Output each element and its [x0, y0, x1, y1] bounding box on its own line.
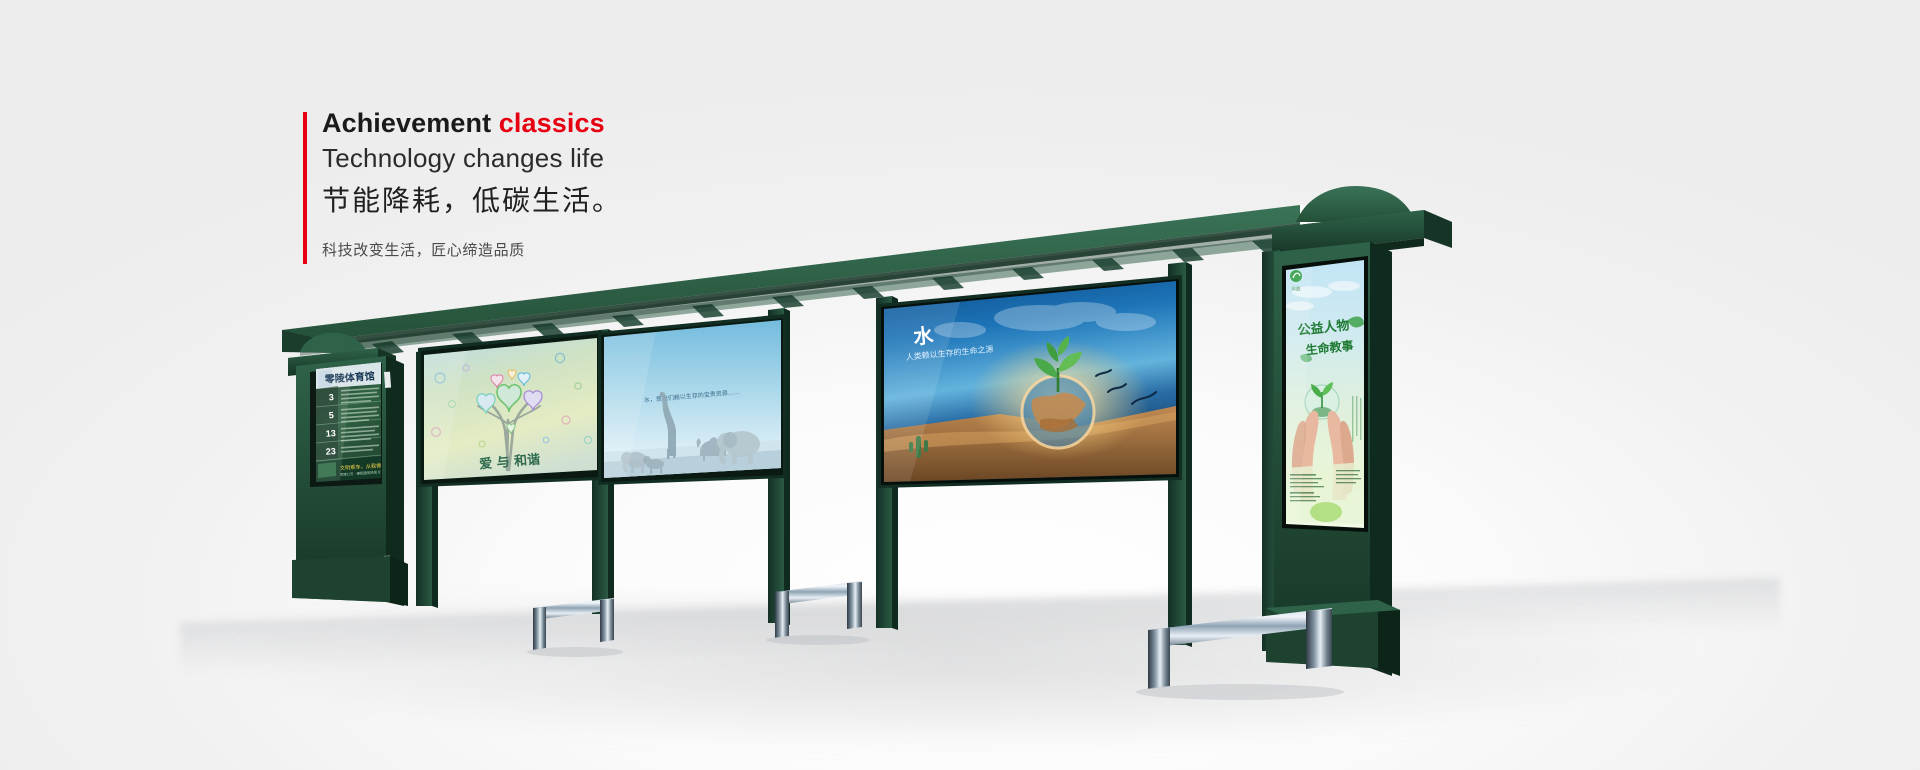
schedule-cabinet-base-front — [292, 556, 390, 602]
shelter-roof — [282, 205, 1420, 356]
lightbox-footer-leaf — [1310, 502, 1342, 522]
ad-panel-heart-tree[interactable]: 爱 与 和谐 — [418, 326, 604, 490]
bench-leg-left — [1148, 628, 1170, 689]
bench-leg-left — [775, 591, 789, 638]
bench-shadow — [1136, 684, 1344, 700]
ad-panel-water-earth[interactable]: 水 人类赖以生存的生命之源 — [878, 275, 1183, 490]
cabinet-hinge-top — [384, 372, 391, 388]
bench-leg-right — [847, 582, 862, 629]
lightbox-base-side — [1378, 600, 1400, 676]
product-showcase-canvas: Achievement classics Technology changes … — [0, 0, 1920, 770]
bench[interactable] — [1136, 608, 1344, 700]
canopy-slab-side — [1424, 210, 1452, 248]
schedule-cabinet: 零陵体育馆 3 5 13 23 — [288, 333, 408, 606]
bench-shadow — [527, 647, 623, 657]
schedule-cabinet-base-side — [390, 556, 408, 606]
vertical-lightbox[interactable]: 公益 公益人物 生命教事 — [1266, 242, 1400, 676]
bench-leg-right — [600, 599, 614, 642]
ad-panel-wildlife[interactable]: 水，是我们赖以生存的宝贵资源…… — [598, 314, 788, 489]
bench-shadow — [766, 635, 870, 645]
bench[interactable] — [527, 598, 623, 657]
bus-shelter-render: 零陵体育馆 3 5 13 23 — [0, 0, 1920, 770]
bench-leg-left — [533, 607, 546, 650]
bench-leg-right — [1306, 609, 1332, 669]
